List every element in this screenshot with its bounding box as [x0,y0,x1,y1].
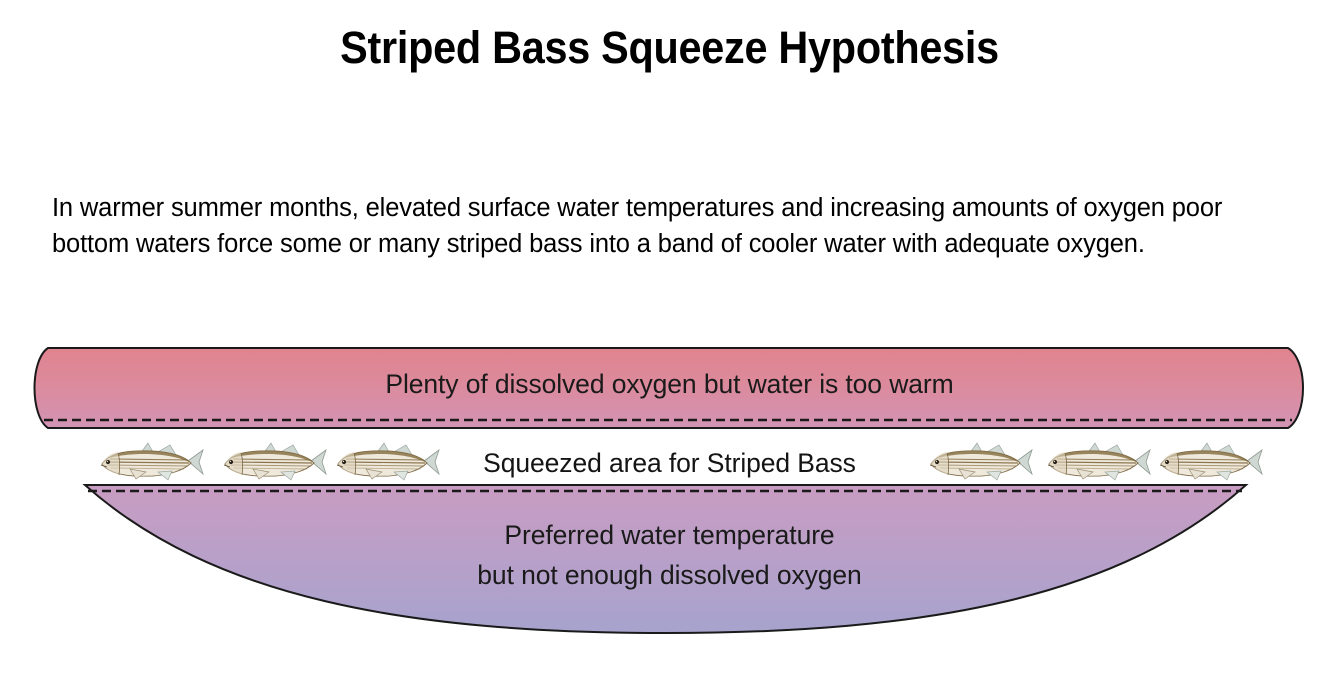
diagram-shapes [0,330,1339,650]
squeeze-hypothesis-diagram: Plenty of dissolved oxygen but water is … [0,330,1339,650]
striped-bass-icon [219,439,329,486]
striped-bass-icon [96,439,206,486]
cold-water-layer [85,485,1246,633]
warm-water-layer [35,348,1304,428]
striped-bass-icon [332,439,442,486]
striped-bass-icon [1155,439,1265,486]
intro-paragraph: In warmer summer months, elevated surfac… [52,190,1297,262]
striped-bass-icon [925,439,1035,486]
page-title: Striped Bass Squeeze Hypothesis [54,22,1286,74]
striped-bass-icon [1043,439,1153,486]
